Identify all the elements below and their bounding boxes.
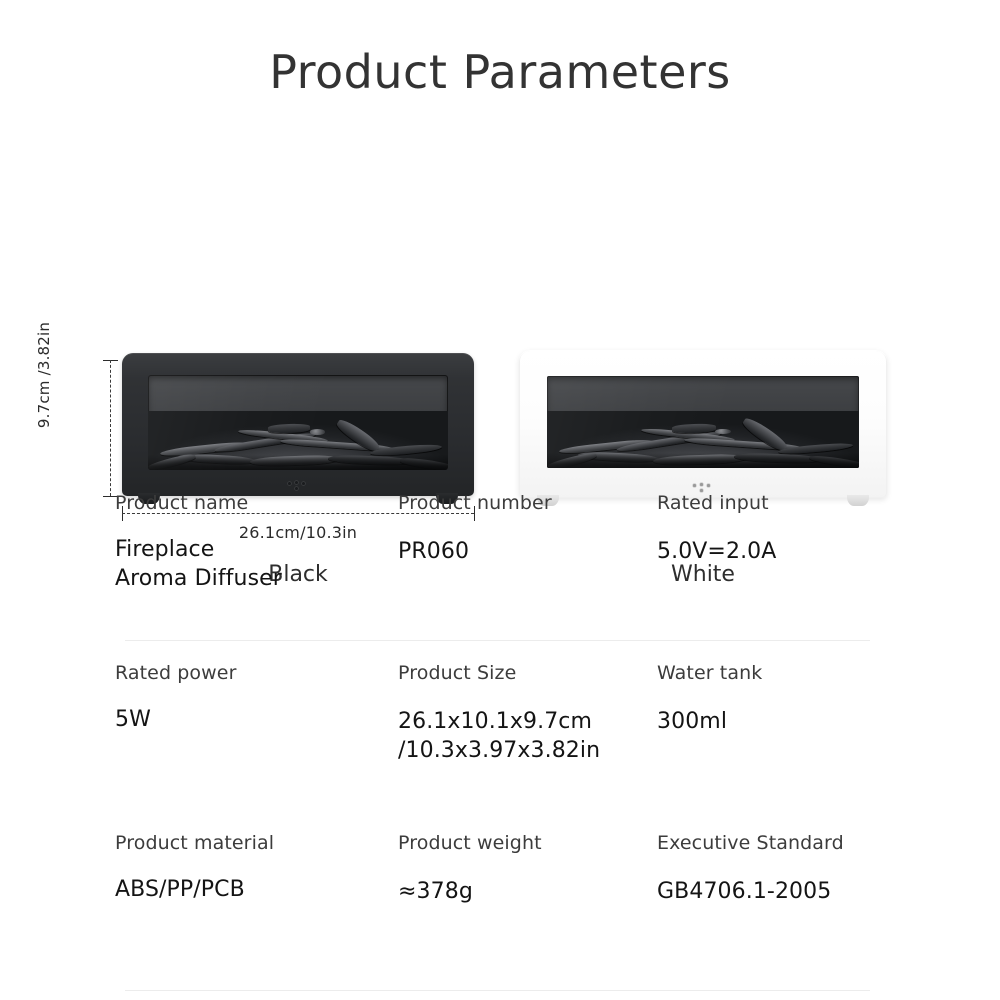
specifications-table: Product name Fireplace Aroma Diffuser Pr… xyxy=(0,492,1000,952)
spec-value: 5.0V=2.0A xyxy=(657,537,937,566)
product-showcase: 9.7cm /3.82in 26.1cm/10.3in xyxy=(0,170,1000,430)
spec-value: 5W xyxy=(115,705,390,734)
spec-label: Rated input xyxy=(657,492,937,515)
spec-cell-executive-standard: Executive Standard GB4706.1-2005 xyxy=(657,832,937,906)
row-divider xyxy=(125,640,870,641)
spec-value: ABS/PP/PCB xyxy=(115,875,390,904)
spec-label: Executive Standard xyxy=(657,832,937,855)
spec-label: Product number xyxy=(398,492,648,515)
spec-cell-product-name: Product name Fireplace Aroma Diffuser xyxy=(115,492,390,593)
spec-row: Product material ABS/PP/PCB Product weig… xyxy=(0,832,1000,952)
spec-cell-rated-input: Rated input 5.0V=2.0A xyxy=(657,492,937,566)
spec-cell-product-weight: Product weight ≈378g xyxy=(398,832,648,906)
white-unit-log-pile xyxy=(547,411,859,468)
spec-cell-water-tank: Water tank 300ml xyxy=(657,662,937,736)
black-unit-vent-grille xyxy=(286,479,310,491)
product-image-black xyxy=(122,353,474,496)
height-dimension-label: 9.7cm /3.82in xyxy=(35,305,53,445)
spec-label: Product name xyxy=(115,492,390,515)
black-unit-window xyxy=(148,375,448,470)
spec-value: PR060 xyxy=(398,537,648,566)
spec-value: 300ml xyxy=(657,707,937,736)
spec-value: 26.1x10.1x9.7cm /10.3x3.97x3.82in xyxy=(398,707,648,765)
page-title: Product Parameters xyxy=(0,46,1000,99)
spec-cell-product-number: Product number PR060 xyxy=(398,492,648,566)
log-base-shadow xyxy=(148,455,448,470)
log-base-shadow xyxy=(547,453,859,468)
spec-value: Fireplace Aroma Diffuser xyxy=(115,535,390,593)
spec-cell-product-size: Product Size 26.1x10.1x9.7cm /10.3x3.97x… xyxy=(398,662,648,765)
black-unit-log-pile xyxy=(148,411,448,470)
row-divider xyxy=(125,990,870,991)
spec-label: Product material xyxy=(115,832,390,855)
spec-label: Rated power xyxy=(115,662,390,685)
spec-value: GB4706.1-2005 xyxy=(657,877,937,906)
spec-label: Water tank xyxy=(657,662,937,685)
white-unit-window xyxy=(547,376,859,468)
spec-row: Rated power 5W Product Size 26.1x10.1x9.… xyxy=(0,662,1000,832)
height-dimension-line xyxy=(110,360,111,496)
spec-label: Product weight xyxy=(398,832,648,855)
product-image-white xyxy=(519,350,887,498)
spec-cell-rated-power: Rated power 5W xyxy=(115,662,390,734)
spec-label: Product Size xyxy=(398,662,648,685)
spec-row: Product name Fireplace Aroma Diffuser Pr… xyxy=(0,492,1000,662)
spec-value: ≈378g xyxy=(398,877,648,906)
spec-cell-product-material: Product material ABS/PP/PCB xyxy=(115,832,390,904)
